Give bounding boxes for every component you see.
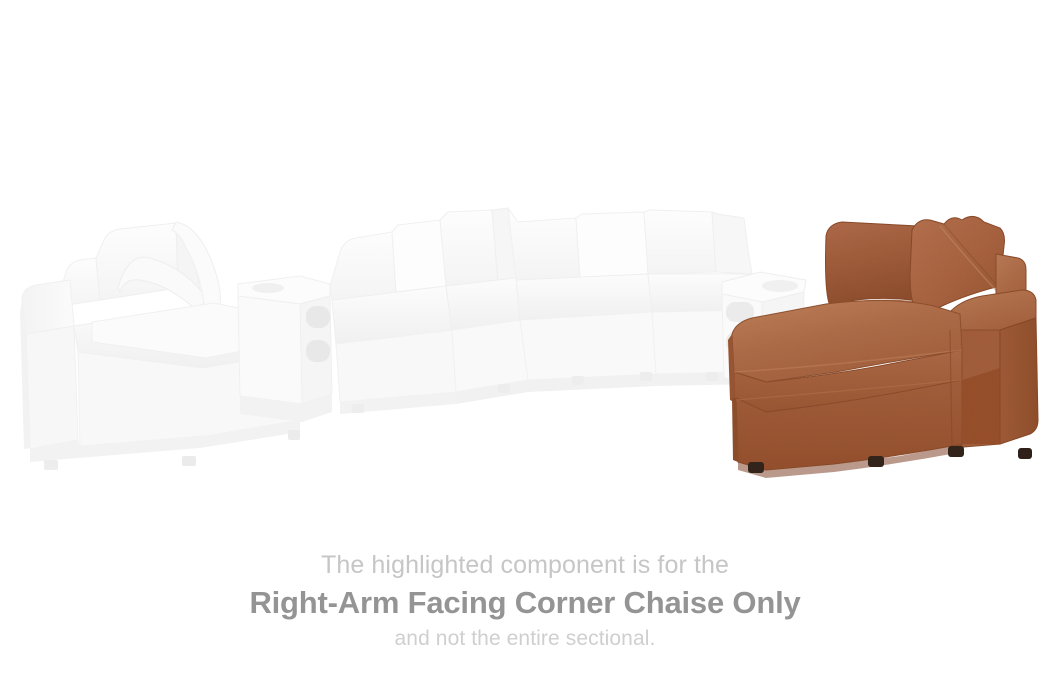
chaise-leg-front-right <box>948 446 964 457</box>
highlighted-right-arm-facing-corner-chaise <box>0 0 1050 520</box>
product-highlight-page: The highlighted component is for the Rig… <box>0 0 1050 700</box>
chaise-right-arm-side <box>1000 318 1038 444</box>
chaise-leg-front-left <box>748 462 764 473</box>
caption-line-intro: The highlighted component is for the <box>0 548 1050 582</box>
caption-block: The highlighted component is for the Rig… <box>0 548 1050 654</box>
caption-line-component-name: Right-Arm Facing Corner Chaise Only <box>0 582 1050 624</box>
chaise-leg-rear-right <box>1018 448 1032 459</box>
sectional-product-illustration <box>0 0 1050 520</box>
caption-line-disclaimer: and not the entire sectional. <box>0 624 1050 654</box>
chaise-leg-front-center <box>868 456 884 467</box>
